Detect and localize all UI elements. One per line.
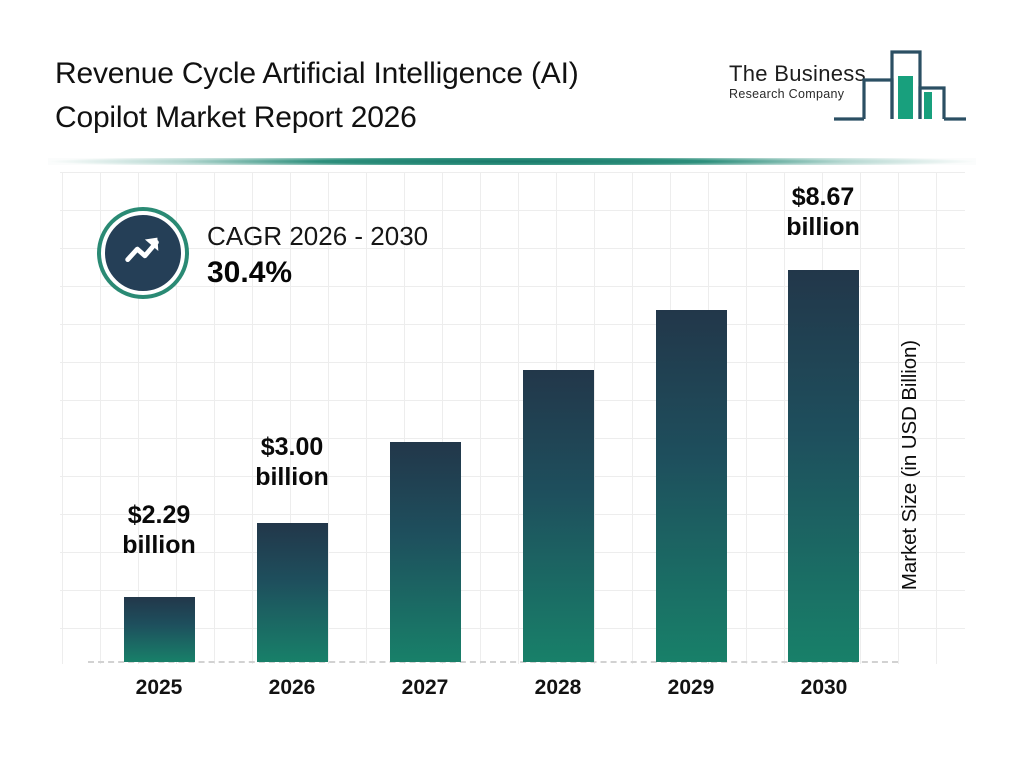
x-label-2029: 2029 bbox=[641, 676, 741, 700]
x-label-2030: 2030 bbox=[774, 676, 874, 700]
cagr-period-label: CAGR 2026 - 2030 bbox=[207, 219, 428, 253]
x-label-2025: 2025 bbox=[109, 676, 209, 700]
bar-2025 bbox=[124, 597, 195, 662]
value-label-2025-amount: $2.29billion bbox=[89, 500, 229, 560]
chart-page: Revenue Cycle Artificial Intelligence (A… bbox=[0, 0, 1024, 768]
cagr-value: 30.4% bbox=[207, 253, 428, 293]
value-label-2030-amount: $8.67billion bbox=[753, 182, 893, 242]
cagr-badge: CAGR 2026 - 2030 30.4% bbox=[97, 207, 517, 312]
value-label-2025: $2.29billion bbox=[89, 500, 229, 560]
x-label-2027: 2027 bbox=[375, 676, 475, 700]
x-label-2028: 2028 bbox=[508, 676, 608, 700]
bar-2029 bbox=[656, 310, 727, 662]
bar-2030 bbox=[788, 270, 859, 662]
trend-up-arrow-icon bbox=[120, 228, 166, 279]
value-label-2026-amount: $3.00billion bbox=[222, 432, 362, 492]
cagr-badge-inner bbox=[101, 211, 185, 295]
bar-2027 bbox=[390, 442, 461, 662]
cagr-text-block: CAGR 2026 - 2030 30.4% bbox=[207, 219, 428, 293]
value-label-2030: $8.67billion bbox=[753, 182, 893, 242]
cagr-badge-circle bbox=[97, 207, 189, 299]
value-label-2026: $3.00billion bbox=[222, 432, 362, 492]
bar-2026 bbox=[257, 523, 328, 662]
x-label-2026: 2026 bbox=[242, 676, 342, 700]
bar-2028 bbox=[523, 370, 594, 662]
y-axis-title-text: Market Size (in USD Billion) bbox=[898, 285, 922, 645]
bar-series bbox=[0, 0, 1024, 768]
y-axis-title: Market Size (in USD Billion) bbox=[898, 0, 928, 285]
x-axis-labels: 2025 2026 2027 2028 2029 2030 bbox=[0, 676, 1024, 716]
